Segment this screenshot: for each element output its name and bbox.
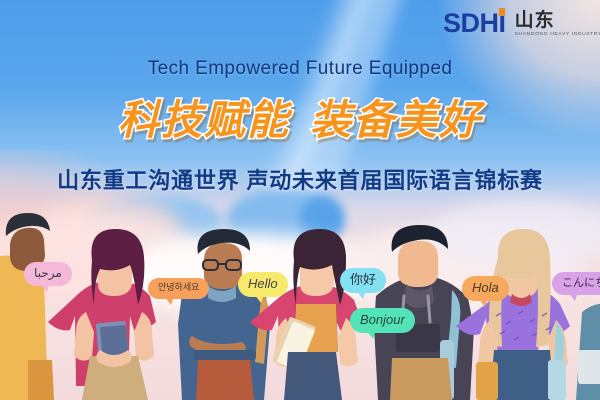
logo-chinese-block: 山东 SHANDONG HEAVY INDUSTRY: [515, 11, 600, 37]
speech-bubble-japanese: こんにちは: [552, 272, 600, 295]
person-figure: [250, 229, 362, 400]
speech-bubble-spanish: Hola: [462, 276, 509, 301]
main-headline: 科技赋能装备美好: [0, 86, 600, 146]
sdhi-logo[interactable]: SDHI 山东 SHANDONG HEAVY INDUSTRY: [443, 10, 600, 37]
logo-chinese-name: 山东: [515, 11, 600, 30]
bubble-text: Bonjour: [360, 313, 405, 327]
speech-bubble-french: Bonjour: [350, 308, 415, 333]
person-figure: [576, 304, 600, 400]
logo-wordmark: SDHI: [443, 10, 506, 37]
logo-wordmark-text: SDHI: [443, 8, 506, 38]
person-figure: [178, 229, 270, 400]
person-figure: [48, 229, 156, 400]
bubble-text: 你好: [350, 273, 376, 287]
people-illustration: [0, 240, 600, 400]
speech-bubble-korean: 안녕하세요: [148, 278, 209, 299]
speech-bubble-chinese: 你好: [340, 268, 386, 293]
bubble-text: 안녕하세요: [158, 283, 199, 293]
bubble-text: こんにちは: [562, 277, 600, 289]
event-subtitle: 山东重工沟通世界 声动未来首届国际语言锦标赛: [0, 163, 600, 195]
bubble-text: Hello: [248, 277, 278, 291]
bubble-text: مرحبا: [34, 267, 62, 280]
bubble-text: Hola: [472, 281, 499, 295]
speech-bubble-arabic: مرحبا: [24, 262, 72, 286]
headline-part-left: 科技赋能: [118, 97, 290, 143]
logo-chinese-subtext: SHANDONG HEAVY INDUSTRY: [515, 31, 600, 36]
person-figure: [456, 229, 570, 400]
poster-canvas: SDHI 山东 SHANDONG HEAVY INDUSTRY Tech Emp…: [0, 0, 600, 400]
eyebrow-tagline: Tech Empowered Future Equipped: [0, 58, 600, 80]
logo-orange-dot-icon: [499, 8, 505, 16]
headline-part-right: 装备美好: [310, 97, 482, 143]
person-figure: [0, 213, 54, 400]
speech-bubble-english: Hello: [238, 272, 288, 297]
